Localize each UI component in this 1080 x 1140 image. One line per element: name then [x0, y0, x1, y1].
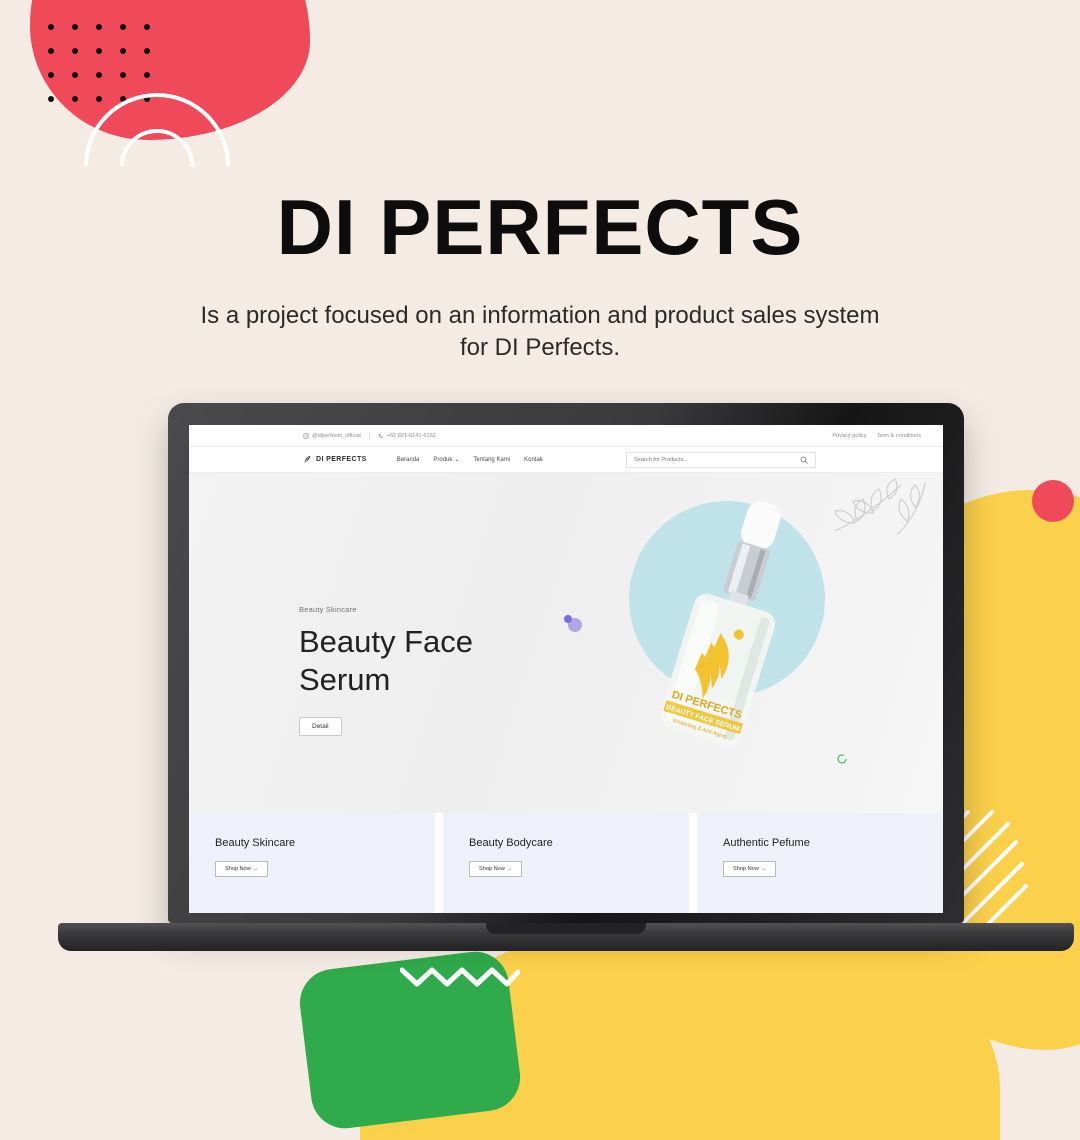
nav-label: Tentang Kami	[473, 457, 510, 463]
instagram-handle: @diperfects_official	[312, 433, 361, 439]
brand-logo[interactable]: DI PERFECTS	[303, 455, 367, 464]
hero-section: Beauty Skincare Beauty Face Serum Detail	[189, 473, 943, 813]
red-dot-decoration	[1032, 480, 1074, 522]
hero-title-line2: Serum	[299, 661, 473, 699]
leaf-branch-decoration	[827, 477, 937, 539]
nav-links: Beranda Produk ⌄ Tentang Kami Kontak	[397, 456, 543, 463]
category-card[interactable]: Beauty Bodycare Shop Now →	[443, 813, 689, 913]
nav-label: Kontak	[524, 457, 543, 463]
hero-title-line1: Beauty Face	[299, 623, 473, 661]
nav-item-kontak[interactable]: Kontak	[524, 456, 543, 463]
card-title: Authentic Pefume	[723, 837, 943, 849]
instagram-icon	[303, 433, 309, 439]
nav-item-produk[interactable]: Produk ⌄	[433, 456, 459, 463]
laptop-base	[58, 923, 1074, 951]
red-blob-decoration	[30, 0, 310, 140]
laptop-mockup: @diperfects_official +62 821-6141-6162 P…	[168, 403, 964, 923]
nav-item-beranda[interactable]: Beranda	[397, 456, 420, 463]
feather-logo-icon	[303, 455, 312, 464]
category-card[interactable]: Beauty Skincare Shop Now →	[189, 813, 435, 913]
category-cards: Beauty Skincare Shop Now → Beauty Bodyca…	[189, 813, 943, 913]
phone-number: +62 821-6141-6162	[387, 433, 436, 439]
nav-label: Beranda	[397, 457, 420, 463]
nav-label: Produk	[433, 457, 452, 463]
shop-now-button[interactable]: Shop Now →	[723, 861, 776, 877]
category-card[interactable]: Authentic Pefume Shop Now →	[697, 813, 943, 913]
phone-contact[interactable]: +62 821-6141-6162	[378, 433, 436, 439]
brand-name: DI PERFECTS	[316, 456, 367, 463]
site-navbar: DI PERFECTS Beranda Produk ⌄ Tentang Kam…	[189, 447, 943, 473]
hero-copy: Beauty Skincare Beauty Face Serum Detail	[299, 605, 473, 736]
topbar-divider	[369, 432, 370, 440]
website-preview: @diperfects_official +62 821-6141-6162 P…	[189, 425, 943, 913]
double-arc-decoration	[82, 88, 232, 168]
privacy-policy-link[interactable]: Privacy policy	[832, 433, 866, 439]
card-title: Beauty Bodycare	[469, 837, 689, 849]
hero-title: Beauty Face Serum	[299, 623, 473, 699]
phone-icon	[378, 433, 384, 439]
page-title: DI PERFECTS	[0, 188, 1080, 266]
nav-item-tentang-kami[interactable]: Tentang Kami	[473, 456, 510, 463]
card-title: Beauty Skincare	[215, 837, 435, 849]
shop-now-button[interactable]: Shop Now →	[215, 861, 268, 877]
instagram-contact[interactable]: @diperfects_official	[303, 433, 361, 439]
laptop-trackpad-notch	[486, 923, 646, 934]
hero-eyebrow: Beauty Skincare	[299, 605, 473, 614]
search-icon[interactable]	[800, 456, 808, 464]
page-subtitle: Is a project focused on an information a…	[190, 300, 890, 365]
search-input[interactable]	[634, 457, 794, 463]
purple-circles-decoration	[561, 613, 585, 633]
detail-button[interactable]: Detail	[299, 717, 342, 736]
search-box[interactable]	[626, 452, 816, 468]
laptop-lid: @diperfects_official +62 821-6141-6162 P…	[168, 403, 964, 923]
shop-now-button[interactable]: Shop Now →	[469, 861, 522, 877]
green-blob-decoration	[296, 948, 524, 1132]
serum-bottle-product-image: DI PERFECTS BEAUTY FACE SERUM Whitening …	[647, 489, 805, 759]
terms-conditions-link[interactable]: Term & conditions	[877, 433, 921, 439]
search-wrapper	[626, 452, 816, 468]
site-topbar: @diperfects_official +62 821-6141-6162 P…	[189, 425, 943, 447]
zigzag-decoration	[400, 964, 520, 988]
laptop-screen: @diperfects_official +62 821-6141-6162 P…	[189, 425, 943, 913]
poster-headline-block: DI PERFECTS Is a project focused on an i…	[0, 188, 1080, 365]
chevron-down-icon: ⌄	[454, 456, 459, 463]
green-ring-decoration	[836, 753, 848, 765]
